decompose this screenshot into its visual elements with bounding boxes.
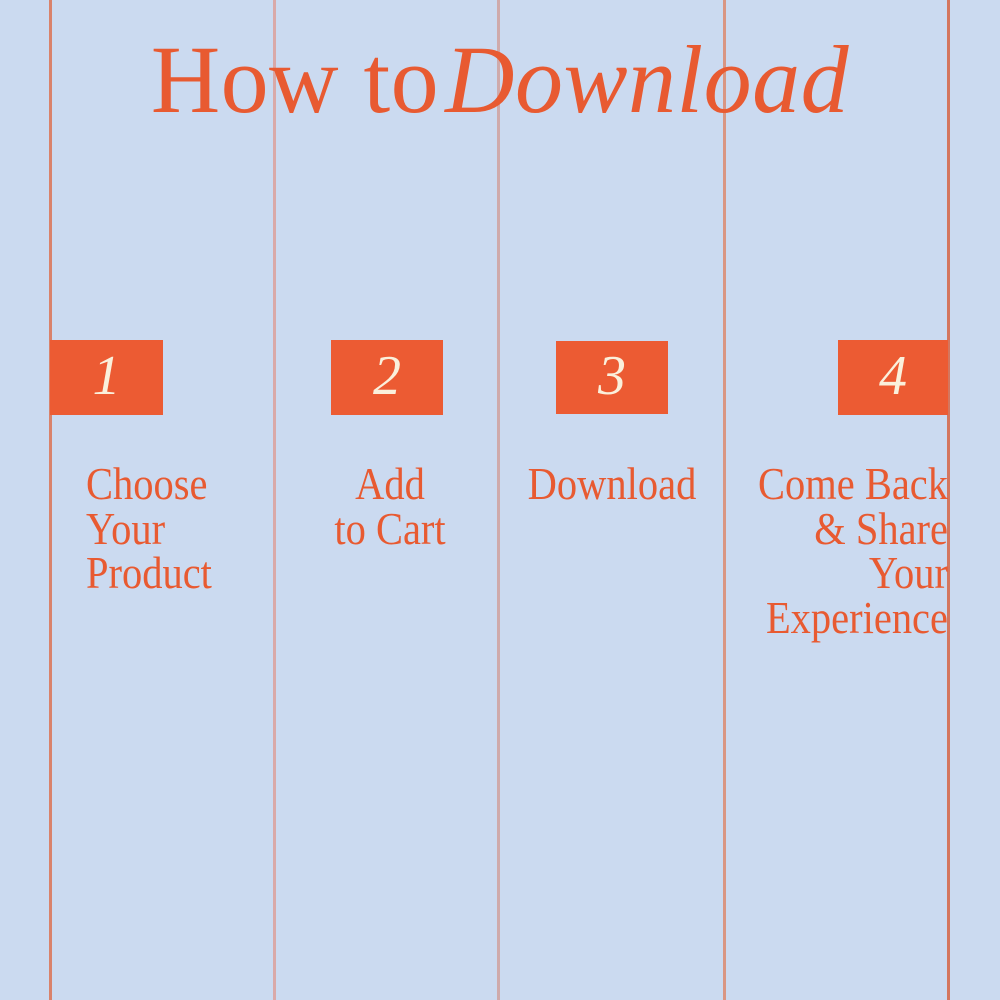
step-number-2: 2 [373, 348, 401, 404]
step-caption-4: Come Back & Share Your Experience [730, 462, 948, 640]
how-to-download-poster: How toDownload 1 Choose Your Product 2 A… [0, 0, 1000, 1000]
step-caption-3-line-1: Download [513, 462, 710, 507]
column-divider-3 [497, 0, 500, 1000]
page-title-italic: Download [439, 26, 849, 133]
step-number-badge-4: 4 [838, 340, 948, 415]
step-caption-3: Download [513, 462, 710, 507]
step-caption-4-line-4: Experience [730, 596, 948, 641]
step-number-badge-1: 1 [50, 340, 163, 415]
step-number-badge-2: 2 [331, 340, 443, 415]
step-number-3: 3 [598, 348, 626, 404]
step-caption-2: Add to Cart [302, 462, 478, 551]
step-caption-2-line-2: to Cart [302, 507, 478, 552]
page-title: How toDownload [0, 30, 1000, 131]
step-caption-1: Choose Your Product [86, 462, 315, 596]
step-number-4: 4 [879, 348, 907, 404]
step-caption-2-line-1: Add [302, 462, 478, 507]
step-caption-4-line-3: Your [730, 551, 948, 596]
step-caption-4-line-2: & Share [730, 507, 948, 552]
column-divider-1 [49, 0, 52, 1000]
step-caption-1-line-2: Your [86, 507, 315, 552]
step-caption-4-line-1: Come Back [730, 462, 948, 507]
step-number-badge-3: 3 [556, 341, 668, 414]
step-number-1: 1 [93, 348, 121, 404]
page-title-roman: How to [151, 26, 439, 133]
step-caption-1-line-3: Product [86, 551, 315, 596]
step-caption-1-line-1: Choose [86, 462, 315, 507]
column-divider-4 [723, 0, 726, 1000]
